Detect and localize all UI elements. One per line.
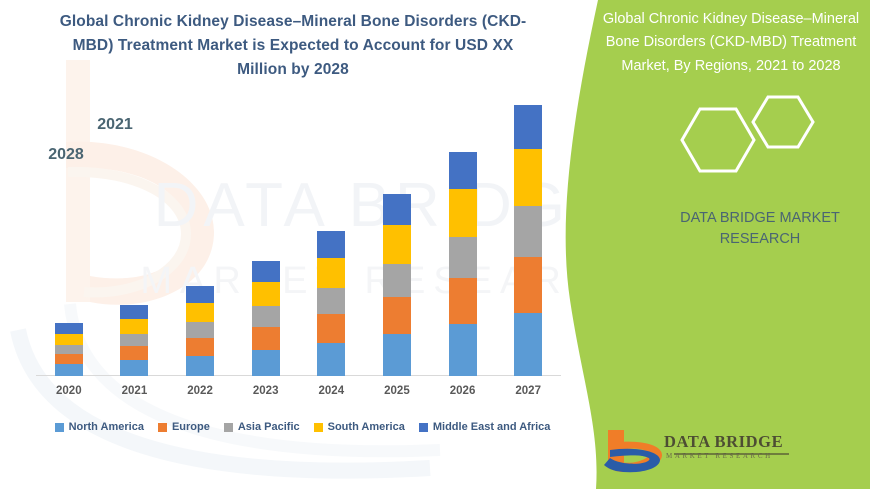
legend-label: Asia Pacific xyxy=(238,421,300,433)
chart-legend[interactable]: North AmericaEuropeAsia PacificSouth Ame… xyxy=(30,418,575,436)
legend-swatch-icon xyxy=(55,423,64,432)
bar-segment-south-america xyxy=(186,303,214,322)
legend-swatch-icon xyxy=(158,423,167,432)
x-tick-label-2027: 2027 xyxy=(500,385,557,397)
x-tick-label-2024: 2024 xyxy=(303,385,360,397)
x-tick-label-2021: 2021 xyxy=(106,385,163,397)
bar-segment-south-america xyxy=(120,319,148,334)
bar-segment-europe xyxy=(252,327,280,350)
bar-segment-south-america xyxy=(252,282,280,306)
legend-swatch-icon xyxy=(314,423,323,432)
bar-segment-south-america xyxy=(383,225,411,263)
bar-segment-europe xyxy=(55,354,83,364)
bar-segment-asia-pacific xyxy=(55,345,83,354)
bar-segment-middle-east-and-africa xyxy=(317,231,345,257)
bar-segment-north-america xyxy=(449,324,477,376)
bar-segment-north-america xyxy=(252,350,280,376)
hex-badge-label-2028: 2028 xyxy=(36,146,96,164)
bar-segment-north-america xyxy=(383,334,411,376)
bar-2025[interactable] xyxy=(383,194,411,376)
legend-item-south-america[interactable]: South America xyxy=(314,421,405,433)
bar-segment-north-america xyxy=(120,360,148,376)
x-tick-label-2023: 2023 xyxy=(237,385,294,397)
bar-segment-north-america xyxy=(55,364,83,376)
legend-label: Middle East and Africa xyxy=(433,421,551,433)
legend-item-europe[interactable]: Europe xyxy=(158,421,210,433)
bar-segment-europe xyxy=(449,278,477,324)
bar-segment-asia-pacific xyxy=(383,264,411,297)
bar-segment-asia-pacific xyxy=(186,322,214,338)
bar-segment-middle-east-and-africa xyxy=(186,286,214,303)
bar-2022[interactable] xyxy=(186,286,214,376)
bar-segment-asia-pacific xyxy=(120,334,148,346)
x-tick-label-2025: 2025 xyxy=(368,385,425,397)
legend-label: South America xyxy=(328,421,405,433)
bar-segment-asia-pacific xyxy=(252,306,280,327)
bar-segment-north-america xyxy=(317,343,345,376)
bar-segment-europe xyxy=(186,338,214,356)
x-tick-label-2026: 2026 xyxy=(434,385,491,397)
x-tick-label-2020: 2020 xyxy=(40,385,97,397)
bar-segment-europe xyxy=(383,297,411,334)
legend-item-middle-east-and-africa[interactable]: Middle East and Africa xyxy=(419,421,551,433)
bar-segment-north-america xyxy=(514,313,542,376)
bar-segment-middle-east-and-africa xyxy=(514,105,542,149)
legend-item-asia-pacific[interactable]: Asia Pacific xyxy=(224,421,300,433)
x-tick-label-2022: 2022 xyxy=(172,385,229,397)
bar-segment-europe xyxy=(514,257,542,313)
bar-segment-asia-pacific xyxy=(514,206,542,256)
legend-label: Europe xyxy=(172,421,210,433)
logo-wordmark: DATA BRIDGE xyxy=(664,432,783,452)
chart-plot-area xyxy=(36,110,561,376)
legend-swatch-icon xyxy=(224,423,233,432)
stacked-bar-chart: 20202021202220232024202520262027 xyxy=(0,0,580,420)
legend-item-north-america[interactable]: North America xyxy=(55,421,144,433)
bar-2026[interactable] xyxy=(449,152,477,376)
bar-2027[interactable] xyxy=(514,105,542,376)
infographic-root: DATA BRIDGE MARKET RESEARCH Global Chron… xyxy=(0,0,870,489)
bar-segment-south-america xyxy=(317,258,345,288)
bar-2023[interactable] xyxy=(252,261,280,376)
hexagon-2028-icon xyxy=(682,109,754,171)
bar-segment-north-america xyxy=(186,356,214,376)
bar-segment-middle-east-and-africa xyxy=(383,194,411,225)
bar-segment-middle-east-and-africa xyxy=(449,152,477,189)
bar-segment-south-america xyxy=(55,334,83,345)
bar-segment-europe xyxy=(120,346,148,360)
bar-2021[interactable] xyxy=(120,305,148,376)
bar-segment-middle-east-and-africa xyxy=(55,323,83,334)
logo-tagline: MARKET RESEARCH xyxy=(666,452,773,460)
right-panel-title: Global Chronic Kidney Disease–Mineral Bo… xyxy=(598,8,864,78)
hexagon-badges xyxy=(660,95,860,205)
legend-swatch-icon xyxy=(419,423,428,432)
bar-segment-south-america xyxy=(514,149,542,206)
bar-segment-middle-east-and-africa xyxy=(120,305,148,319)
legend-label: North America xyxy=(69,421,144,433)
bar-segment-asia-pacific xyxy=(317,288,345,314)
bar-2020[interactable] xyxy=(55,323,83,376)
bar-segment-south-america xyxy=(449,189,477,236)
hex-badge-label-2021: 2021 xyxy=(85,116,145,134)
bar-2024[interactable] xyxy=(317,231,345,376)
chart-x-tick-labels: 20202021202220232024202520262027 xyxy=(36,385,561,405)
hexagon-2021-icon xyxy=(753,97,813,147)
brand-name-text: DATA BRIDGE MARKET RESEARCH xyxy=(650,208,870,250)
bar-segment-asia-pacific xyxy=(449,237,477,278)
bar-segment-europe xyxy=(317,314,345,343)
bar-segment-middle-east-and-africa xyxy=(252,261,280,282)
